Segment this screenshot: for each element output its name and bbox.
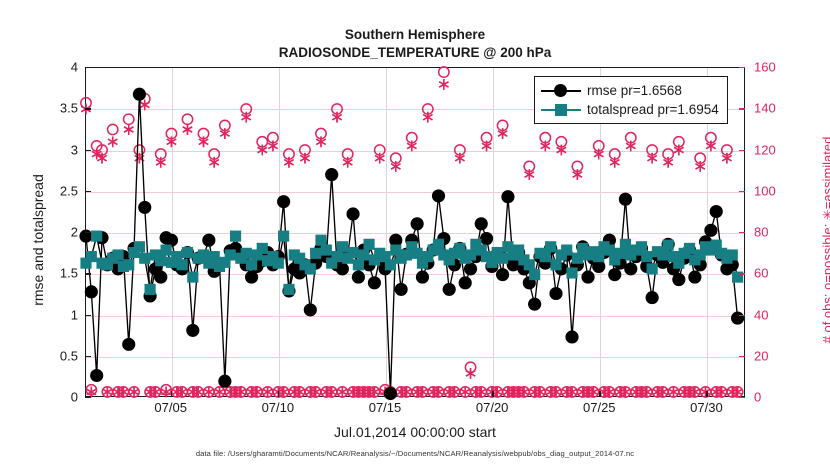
obs-assimilated-marker: [466, 368, 475, 379]
obs-assimilated-marker: [183, 124, 192, 135]
totalspread-point-marker: [486, 257, 497, 268]
totalspread-point-marker: [337, 241, 348, 252]
totalspread-point-marker: [273, 258, 284, 269]
totalspread-point-marker: [663, 240, 674, 251]
y2-tick-mark: [739, 232, 745, 233]
totalspread-point-marker: [241, 248, 252, 259]
totalspread-point-marker: [145, 284, 156, 295]
rmse-point-marker: [325, 168, 338, 181]
y2-axis-label: # of obs: o=possible; ✳=assimilated: [820, 90, 830, 390]
totalspread-point-marker: [572, 253, 583, 264]
totalspread-point-marker: [225, 249, 236, 260]
totalspread-point-marker: [684, 243, 695, 254]
y2-tick-mark: [739, 108, 745, 109]
chart-screenshot: Southern Hemisphere RADIOSONDE_TEMPERATU…: [0, 0, 830, 470]
totalspread-point-marker: [310, 248, 321, 259]
rmse-point-marker: [464, 262, 477, 275]
rmse-point-marker: [443, 283, 456, 296]
totalspread-point-marker: [636, 241, 647, 252]
totalspread-point-marker: [524, 259, 535, 270]
totalspread-point-marker: [134, 241, 145, 252]
x-tick-mark: [599, 391, 600, 397]
totalspread-point-marker: [331, 251, 342, 262]
x-tick-label: 07/30: [690, 400, 723, 415]
obs-assimilated-marker: [140, 100, 149, 111]
totalspread-point-marker: [246, 259, 257, 270]
totalspread-point-marker: [641, 251, 652, 262]
totalspread-point-marker: [321, 244, 332, 255]
rmse-point-marker: [581, 271, 594, 284]
obs-assimilated-marker: [161, 387, 170, 398]
rmse-point-marker: [646, 291, 659, 304]
y-tick-mark: [85, 191, 91, 192]
rmse-point-marker: [186, 324, 199, 337]
obs-possible-marker: [439, 67, 449, 77]
data-file-footnote: data file: /Users/gharamti/Documents/NCA…: [0, 449, 830, 458]
rmse-point-marker: [480, 232, 493, 245]
y2-tick-mark: [739, 356, 745, 357]
rmse-point-marker: [549, 287, 562, 300]
rmse-point-marker: [154, 271, 167, 284]
totalspread-point-marker: [513, 244, 524, 255]
totalspread-point-marker: [727, 249, 738, 260]
totalspread-point-marker: [647, 263, 658, 274]
x-tick-mark: [278, 391, 279, 397]
obs-possible-marker: [108, 124, 118, 134]
rmse-point-marker: [85, 285, 98, 298]
y2-tick-mark: [739, 191, 745, 192]
x-tick-mark: [385, 391, 386, 397]
legend-item-totalspread[interactable]: totalspread pr=1.6954: [541, 100, 719, 119]
y2-tick-label: 60: [754, 266, 768, 281]
legend-item-rmse[interactable]: rmse pr=1.6568: [541, 81, 719, 100]
totalspread-point-marker: [155, 255, 166, 266]
y-axis-label: rmse and totalspread: [30, 130, 46, 350]
x-tick-label: 07/10: [262, 400, 295, 415]
rmse-point-marker: [619, 193, 632, 206]
rmse-point-marker: [501, 190, 514, 203]
totalspread-point-marker: [561, 244, 572, 255]
y-tick-mark: [85, 108, 91, 109]
rmse-point-marker: [336, 262, 349, 275]
y-tick-mark: [85, 273, 91, 274]
rmse-point-marker: [346, 207, 359, 220]
obs-assimilated-marker: [87, 387, 96, 398]
rmse-point-marker: [475, 217, 488, 230]
y-tick-mark: [85, 315, 91, 316]
x-tick-label: 07/15: [369, 400, 402, 415]
rmse-point-marker: [304, 303, 317, 316]
legend-label-totalspread: totalspread pr=1.6954: [587, 102, 719, 117]
rmse-point-marker: [138, 201, 151, 214]
rmse-point-marker: [411, 217, 424, 230]
rmse-point-marker: [202, 234, 215, 247]
rmse-point-marker: [277, 195, 290, 208]
title-line-1: Southern Hemisphere: [0, 26, 830, 44]
totalspread-point-marker: [187, 272, 198, 283]
totalspread-point-marker: [112, 249, 123, 260]
rmse-point-marker: [565, 330, 578, 343]
totalspread-point-marker: [353, 259, 364, 270]
x-tick-mark: [492, 391, 493, 397]
obs-assimilated-marker: [108, 136, 117, 147]
rmse-point-marker: [704, 224, 717, 237]
y2-tick-label: 0: [754, 390, 761, 405]
x-tick-label: 07/05: [154, 400, 187, 415]
rmse-point-marker: [432, 189, 445, 202]
totalspread-point-marker: [465, 249, 476, 260]
totalspread-point-marker: [358, 249, 369, 260]
totalspread-point-marker: [540, 251, 551, 262]
rmse-point-marker: [368, 276, 381, 289]
y-tick-label: 3.5: [60, 101, 78, 116]
rmse-point-marker: [395, 283, 408, 296]
legend-swatch-totalspread: [541, 103, 581, 117]
rmse-point-marker: [218, 375, 231, 388]
y-tick-label: 3: [71, 142, 78, 157]
totalspread-point-marker: [182, 247, 193, 258]
totalspread-point-marker: [385, 259, 396, 270]
y2-tick-label: 100: [754, 183, 776, 198]
y2-tick-mark: [739, 67, 745, 68]
totalspread-point-marker: [604, 244, 615, 255]
chart-legend: rmse pr=1.6568 totalspread pr=1.6954: [534, 76, 728, 124]
rmse-point-marker: [528, 298, 541, 311]
rmse-point-marker: [352, 271, 365, 284]
legend-swatch-rmse: [541, 84, 581, 98]
obs-possible-marker: [182, 114, 192, 124]
rmse-point-marker: [731, 312, 744, 325]
totalspread-point-marker: [347, 247, 358, 258]
y-tick-label: 1: [71, 307, 78, 322]
y-tick-mark: [85, 232, 91, 233]
y-tick-mark: [85, 356, 91, 357]
y-tick-label: 1.5: [60, 266, 78, 281]
rmse-point-marker: [688, 271, 701, 284]
totalspread-point-marker: [566, 267, 577, 278]
rmse-point-marker: [90, 369, 103, 382]
y-tick-mark: [85, 397, 91, 398]
y-tick-label: 0.5: [60, 348, 78, 363]
obs-assimilated-marker: [439, 79, 448, 90]
y2-tick-mark: [739, 315, 745, 316]
y2-tick-label: 20: [754, 348, 768, 363]
totalspread-point-marker: [91, 231, 102, 242]
x-tick-label: 07/20: [476, 400, 509, 415]
rmse-point-marker: [496, 268, 509, 281]
y2-tick-label: 160: [754, 60, 776, 75]
rmse-point-marker: [133, 88, 146, 101]
x-axis-label: Jul.01,2014 00:00:00 start: [0, 424, 830, 440]
totalspread-point-marker: [412, 248, 423, 259]
chart-title: Southern Hemisphere RADIOSONDE_TEMPERATU…: [0, 26, 830, 62]
y-tick-label: 0: [71, 390, 78, 405]
totalspread-point-marker: [177, 259, 188, 270]
totalspread-point-marker: [363, 239, 374, 250]
totalspread-point-marker: [673, 258, 684, 269]
totalspread-point-marker: [161, 244, 172, 255]
totalspread-point-marker: [86, 251, 97, 262]
totalspread-point-marker: [315, 235, 326, 246]
totalspread-point-marker: [657, 249, 668, 260]
rmse-point-marker: [624, 262, 637, 275]
totalspread-point-marker: [620, 239, 631, 250]
totalspread-point-marker: [454, 243, 465, 254]
y-tick-label: 2: [71, 225, 78, 240]
totalspread-point-marker: [257, 243, 268, 254]
y-tick-label: 4: [71, 60, 78, 75]
y2-tick-mark: [739, 273, 745, 274]
totalspread-point-marker: [230, 231, 241, 242]
totalspread-point-marker: [433, 239, 444, 250]
legend-label-rmse: rmse pr=1.6568: [587, 83, 682, 98]
y2-tick-label: 80: [754, 225, 768, 240]
totalspread-point-marker: [305, 263, 316, 274]
obs-possible-marker: [124, 114, 134, 124]
title-line-2: RADIOSONDE_TEMPERATURE @ 200 hPa: [0, 44, 830, 62]
x-tick-mark: [706, 391, 707, 397]
y2-tick-mark: [739, 397, 745, 398]
totalspread-point-marker: [550, 259, 561, 270]
totalspread-point-marker: [593, 251, 604, 262]
x-tick-mark: [171, 391, 172, 397]
y2-tick-label: 40: [754, 307, 768, 322]
y-tick-label: 2.5: [60, 183, 78, 198]
x-tick-label: 07/25: [583, 400, 616, 415]
obs-assimilated-marker: [124, 124, 133, 135]
totalspread-point-marker: [545, 241, 556, 252]
totalspread-point-marker: [283, 284, 294, 295]
totalspread-point-marker: [529, 269, 540, 280]
y2-tick-label: 140: [754, 101, 776, 116]
totalspread-point-marker: [209, 251, 220, 262]
rmse-point-marker: [608, 268, 621, 281]
totalspread-point-marker: [123, 259, 134, 270]
rmse-point-marker: [710, 205, 723, 218]
rmse-point-marker: [459, 276, 472, 289]
y2-tick-mark: [739, 150, 745, 151]
y-tick-mark: [85, 67, 91, 68]
y2-tick-label: 120: [754, 142, 776, 157]
y-tick-mark: [85, 150, 91, 151]
rmse-point-marker: [122, 338, 135, 351]
totalspread-point-marker: [139, 253, 150, 264]
totalspread-point-marker: [278, 231, 289, 242]
rmse-point-marker: [416, 271, 429, 284]
rmse-point-marker: [672, 273, 685, 286]
totalspread-point-marker: [497, 253, 508, 264]
